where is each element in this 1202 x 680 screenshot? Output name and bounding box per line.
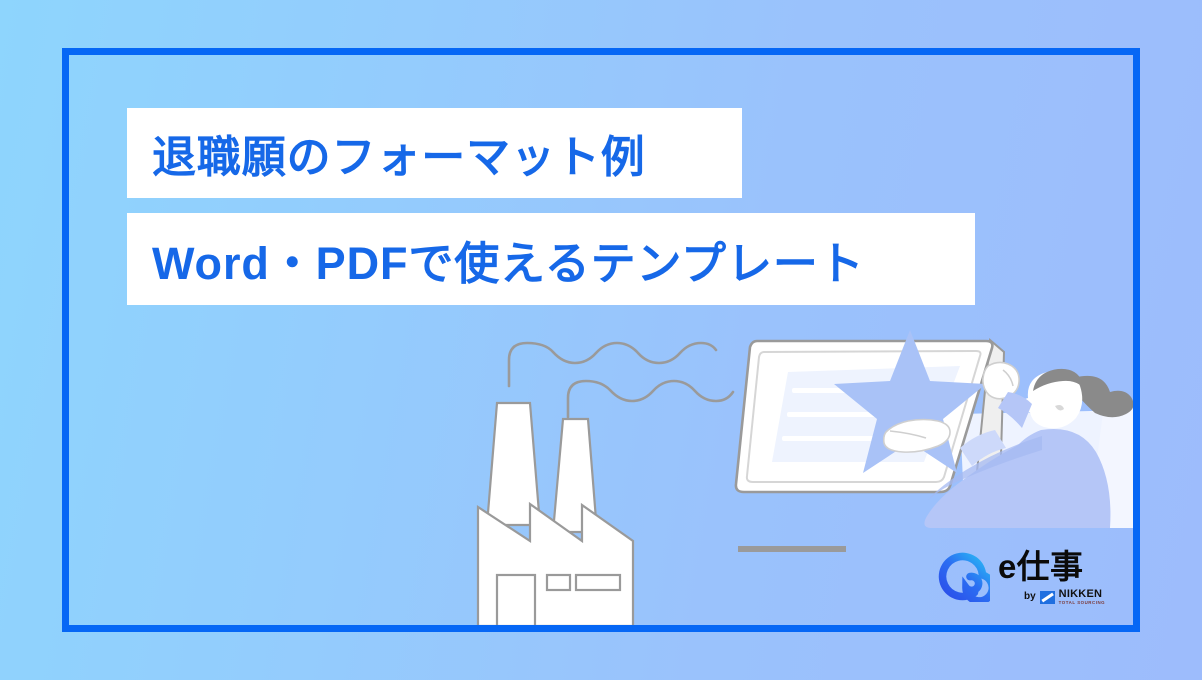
brand-logo: e仕事 by NIKKEN TOTAL SOURCING [936, 545, 1116, 617]
logo-wordmark: e仕事 [998, 550, 1083, 583]
nikken-tagline: TOTAL SOURCING [1059, 601, 1105, 605]
logo-by-label: by [1024, 592, 1036, 602]
nikken-name: NIKKEN [1059, 589, 1105, 600]
nikken-badge-icon [1040, 591, 1055, 604]
headline-secondary-text: Word・PDFで使えるテンプレート [152, 227, 865, 292]
banner-canvas: 退職願のフォーマット例 Word・PDFで使えるテンプレート e仕事 by NI… [0, 0, 1202, 680]
headline-primary-text: 退職願のフォーマット例 [152, 121, 646, 185]
spiral-e-icon [936, 548, 990, 602]
headline-secondary: Word・PDFで使えるテンプレート [127, 213, 975, 305]
logo-parent-company: by NIKKEN TOTAL SOURCING [1024, 589, 1105, 605]
headline-primary: 退職願のフォーマット例 [127, 108, 742, 198]
